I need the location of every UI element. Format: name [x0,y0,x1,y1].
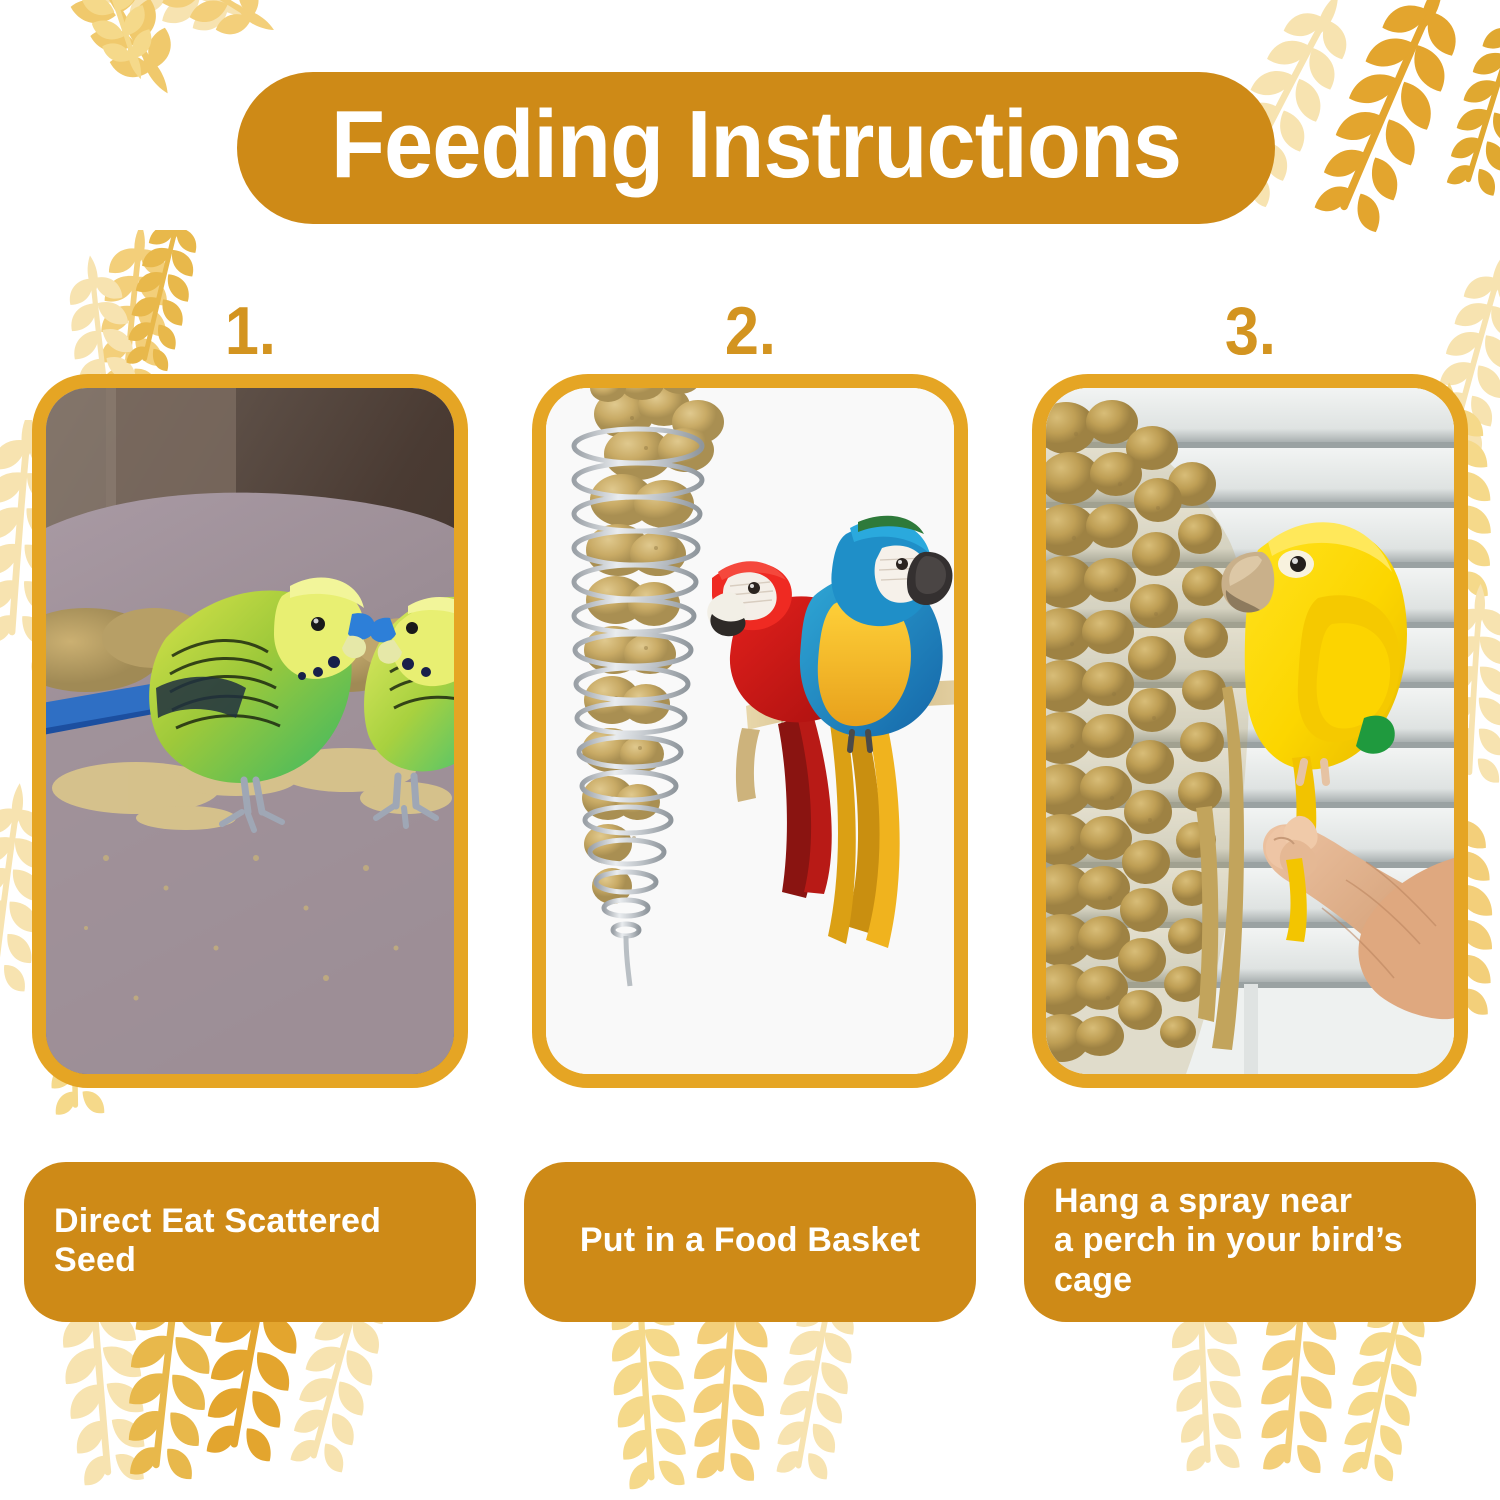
step-photo-card-2 [532,374,968,1088]
photo-spiral-wire-food-basket-with-millet-and-two-macaws [546,388,954,1074]
steps-row: 1. [0,288,1500,1088]
step-number-3: 3. [1224,288,1275,374]
captions-row: Direct Eat Scattered Seed Put in a Food … [0,1162,1500,1322]
step-photo-card-3 [1032,374,1468,1088]
caption-pill-3: Hang a spray near a perch in your bird’s… [1024,1162,1476,1322]
caption-text-1: Direct Eat Scattered Seed [54,1202,381,1281]
caption-text-3: Hang a spray near a perch in your bird’s… [1054,1182,1403,1300]
caption-slot-2: Put in a Food Basket [500,1162,1000,1322]
caption-pill-1: Direct Eat Scattered Seed [24,1162,476,1322]
step-photo-card-1 [32,374,468,1088]
step-number-2: 2. [724,288,775,374]
page-title-pill: Feeding Instructions [237,72,1275,224]
step-column-1: 1. [0,288,500,1088]
photo-yellow-conure-on-hand-eating-hanging-millet-spray [1046,388,1454,1074]
caption-slot-3: Hang a spray near a perch in your bird’s… [1000,1162,1500,1322]
step-number-1: 1. [224,288,275,374]
page-title: Feeding Instructions [331,97,1181,199]
step-column-3: 3. [1000,288,1500,1088]
caption-text-2: Put in a Food Basket [580,1221,920,1260]
feeding-instructions-infographic: Feeding Instructions 1. [0,0,1500,1500]
step-column-2: 2. [500,288,1000,1088]
caption-slot-1: Direct Eat Scattered Seed [0,1162,500,1322]
photo-two-budgerigars-eating-scattered-millet-on-rock [46,388,454,1074]
caption-pill-2: Put in a Food Basket [524,1162,976,1322]
